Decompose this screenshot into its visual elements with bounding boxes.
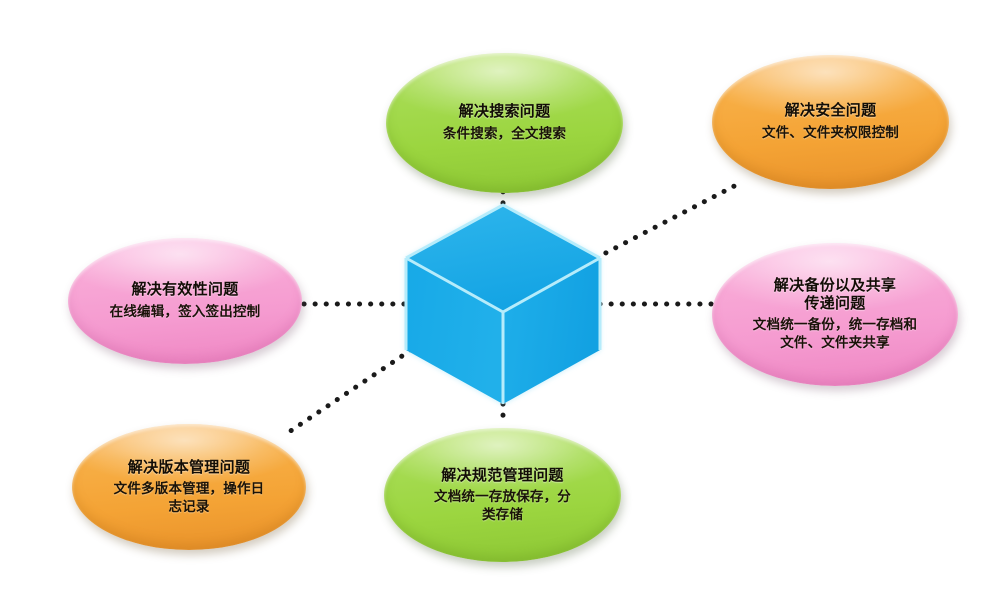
node-standard-subtitle: 文档统一存放保存，分 类存储 [434,489,571,525]
node-search-title: 解决搜索问题 [459,102,551,120]
connector-version [286,350,411,434]
node-standard[interactable]: 解决规范管理问题 文档统一存放保存，分 类存储 [384,428,621,562]
node-validity-title: 解决有效性问题 [131,280,238,298]
node-backup-title: 解决备份以及共享 传递问题 [774,276,896,313]
node-backup-subtitle: 文档统一备份，统一存档和 文件、文件夹共享 [753,317,917,353]
node-backup[interactable]: 解决备份以及共享 传递问题 文档统一备份，统一存档和 文件、文件夹共享 [712,243,958,386]
node-validity[interactable]: 解决有效性问题 在线编辑，签入签出控制 [68,238,302,364]
node-security[interactable]: 解决安全问题 文件、文件夹权限控制 [712,55,949,189]
diagram-canvas: 解决搜索问题 条件搜索，全文搜索 解决安全问题 文件、文件夹权限控制 解决备份以… [0,0,985,606]
node-version-title: 解决版本管理问题 [128,458,250,476]
cube-face-right [503,258,600,404]
cube-edge-inner [406,258,600,312]
node-security-subtitle: 文件、文件夹权限控制 [762,125,899,143]
node-standard-title: 解决规范管理问题 [441,466,563,484]
node-security-title: 解决安全问题 [785,101,877,119]
node-search[interactable]: 解决搜索问题 条件搜索，全文搜索 [386,53,623,193]
node-search-subtitle: 条件搜索，全文搜索 [443,126,566,144]
cube-edge-top-left [406,205,600,258]
node-version[interactable]: 解决版本管理问题 文件多版本管理，操作日 志记录 [72,424,306,550]
cube-glow [406,205,600,404]
node-validity-subtitle: 在线编辑，签入签出控制 [110,304,261,322]
connector-security [596,182,742,258]
cube-face-left [406,258,503,404]
node-version-subtitle: 文件多版本管理，操作日 志记录 [114,481,265,517]
cube-face-top [406,205,600,312]
